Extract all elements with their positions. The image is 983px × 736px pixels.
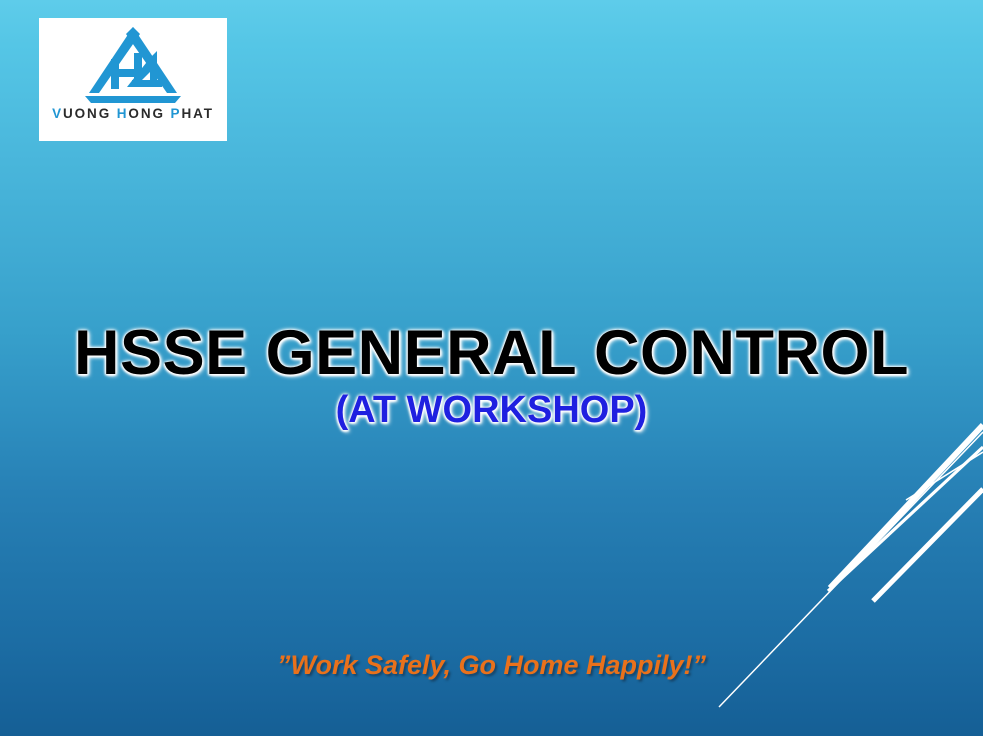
streak-line-3	[906, 452, 983, 500]
vhp-triangle-monogram-icon	[77, 25, 189, 105]
streak-line-1	[830, 425, 983, 588]
streak-line-4	[873, 489, 983, 601]
wordmark-part-uong: UONG	[63, 106, 117, 121]
presentation-slide: VUONG HONG PHAT HSSE GENERAL CONTROL (AT…	[0, 0, 983, 736]
slide-title: HSSE GENERAL CONTROL	[0, 322, 983, 385]
wordmark-part-hat: HAT	[181, 106, 213, 121]
logo-wordmark: VUONG HONG PHAT	[39, 106, 227, 121]
wordmark-part-h: H	[117, 106, 129, 121]
company-logo: VUONG HONG PHAT	[39, 18, 227, 141]
title-block: HSSE GENERAL CONTROL (AT WORKSHOP)	[0, 322, 983, 429]
wordmark-part-v: V	[52, 106, 63, 121]
wordmark-part-ong: ONG	[128, 106, 170, 121]
slide-tagline: ”Work Safely, Go Home Happily!”	[0, 650, 983, 681]
slide-subtitle: (AT WORKSHOP)	[0, 391, 983, 429]
streak-line-2	[828, 447, 983, 591]
wordmark-part-p: P	[171, 106, 182, 121]
